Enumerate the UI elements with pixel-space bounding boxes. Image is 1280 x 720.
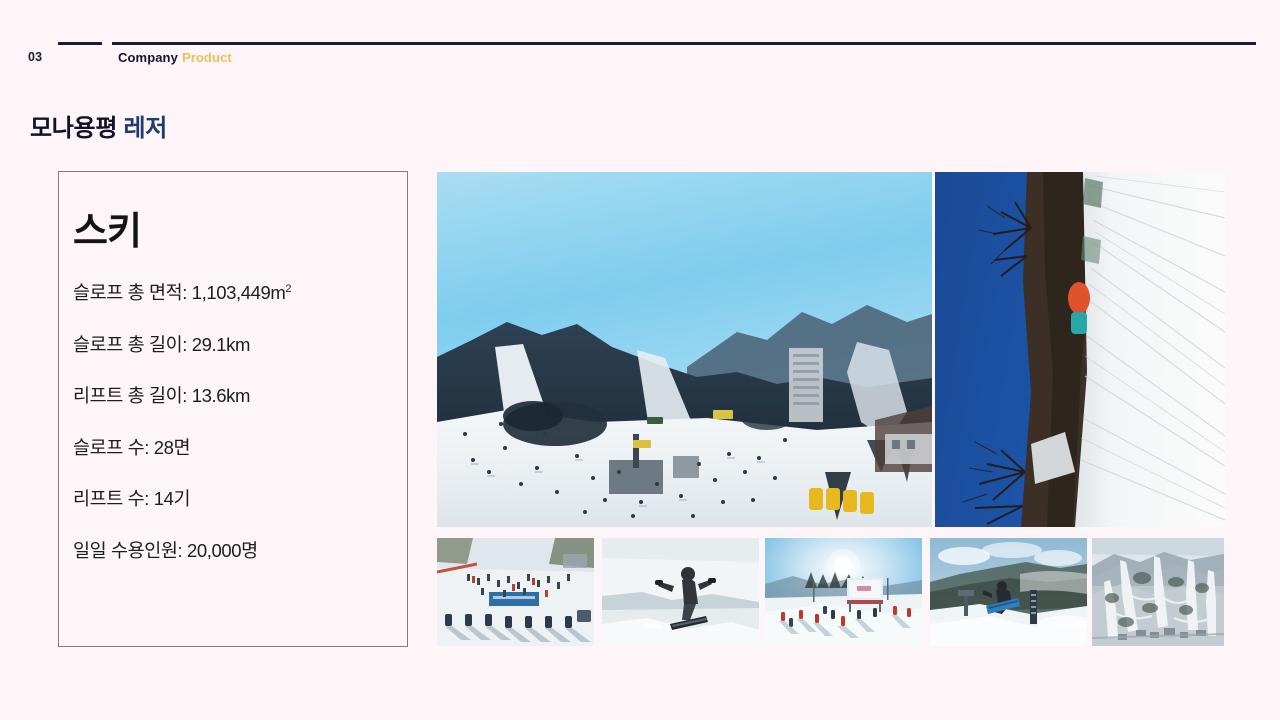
brand-label: CompanyProduct xyxy=(118,50,232,65)
stat-label: 리프트 총 길이: xyxy=(73,385,187,406)
stat-value: 13.6km xyxy=(192,385,250,406)
list-item: 슬로프 총 면적: 1,103,449m2 xyxy=(73,284,397,303)
thumbnail-2-artwork xyxy=(602,538,759,646)
ski-info-box: 스키 슬로프 총 면적: 1,103,449m2 슬로프 총 길이: 29.1k… xyxy=(58,171,408,647)
thumbnail-3-artwork xyxy=(765,538,922,646)
stat-label: 슬로프 총 길이: xyxy=(73,334,187,355)
list-item: 리프트 수: 14기 xyxy=(73,490,397,509)
list-item: 일일 수용인원: 20,000명 xyxy=(73,542,397,561)
stat-value: 14기 xyxy=(154,488,190,509)
tall-photo xyxy=(935,172,1225,527)
stat-value: 29.1km xyxy=(192,334,250,355)
brand-product: Product xyxy=(182,50,232,65)
page-number: 03 xyxy=(28,50,42,64)
ski-stats-list: 슬로프 총 면적: 1,103,449m2 슬로프 총 길이: 29.1km 리… xyxy=(73,284,397,593)
stat-value: 1,103,449m xyxy=(192,282,286,303)
list-item: 슬로프 총 길이: 29.1km xyxy=(73,336,397,355)
page-title: 모나용평 레저 xyxy=(30,108,167,143)
list-item: 슬로프 수: 28면 xyxy=(73,439,397,458)
thumbnail-5-artwork xyxy=(1092,538,1224,646)
tall-photo-artwork xyxy=(935,172,1225,527)
stat-label: 리프트 수: xyxy=(73,488,149,509)
brand-company: Company xyxy=(118,50,178,65)
thumbnail-3 xyxy=(765,538,922,646)
page-title-secondary: 레저 xyxy=(124,115,168,142)
hero-photo-artwork xyxy=(437,172,932,527)
list-item: 리프트 총 길이: 13.6km xyxy=(73,387,397,406)
hero-photo xyxy=(437,172,932,527)
slide-canvas: 03 CompanyProduct 모나용평 레저 스키 슬로프 총 면적: 1… xyxy=(0,0,1280,720)
ski-info-heading: 스키 xyxy=(73,200,141,255)
thumbnail-4-artwork xyxy=(930,538,1087,646)
thumbnail-2 xyxy=(602,538,759,646)
stat-value: 28면 xyxy=(154,437,190,458)
stat-superscript: 2 xyxy=(285,283,291,295)
stat-label: 일일 수용인원: xyxy=(73,540,182,561)
thumbnail-4 xyxy=(930,538,1087,646)
thumbnail-1-artwork xyxy=(437,538,594,646)
thumbnail-1 xyxy=(437,538,594,646)
header-rule-right xyxy=(112,42,1256,45)
header-rule-left xyxy=(58,42,102,45)
stat-label: 슬로프 총 면적: xyxy=(73,282,187,303)
stat-value: 20,000명 xyxy=(187,540,258,561)
page-title-primary: 모나용평 xyxy=(30,115,117,142)
stat-label: 슬로프 수: xyxy=(73,437,149,458)
thumbnail-5 xyxy=(1092,538,1224,646)
